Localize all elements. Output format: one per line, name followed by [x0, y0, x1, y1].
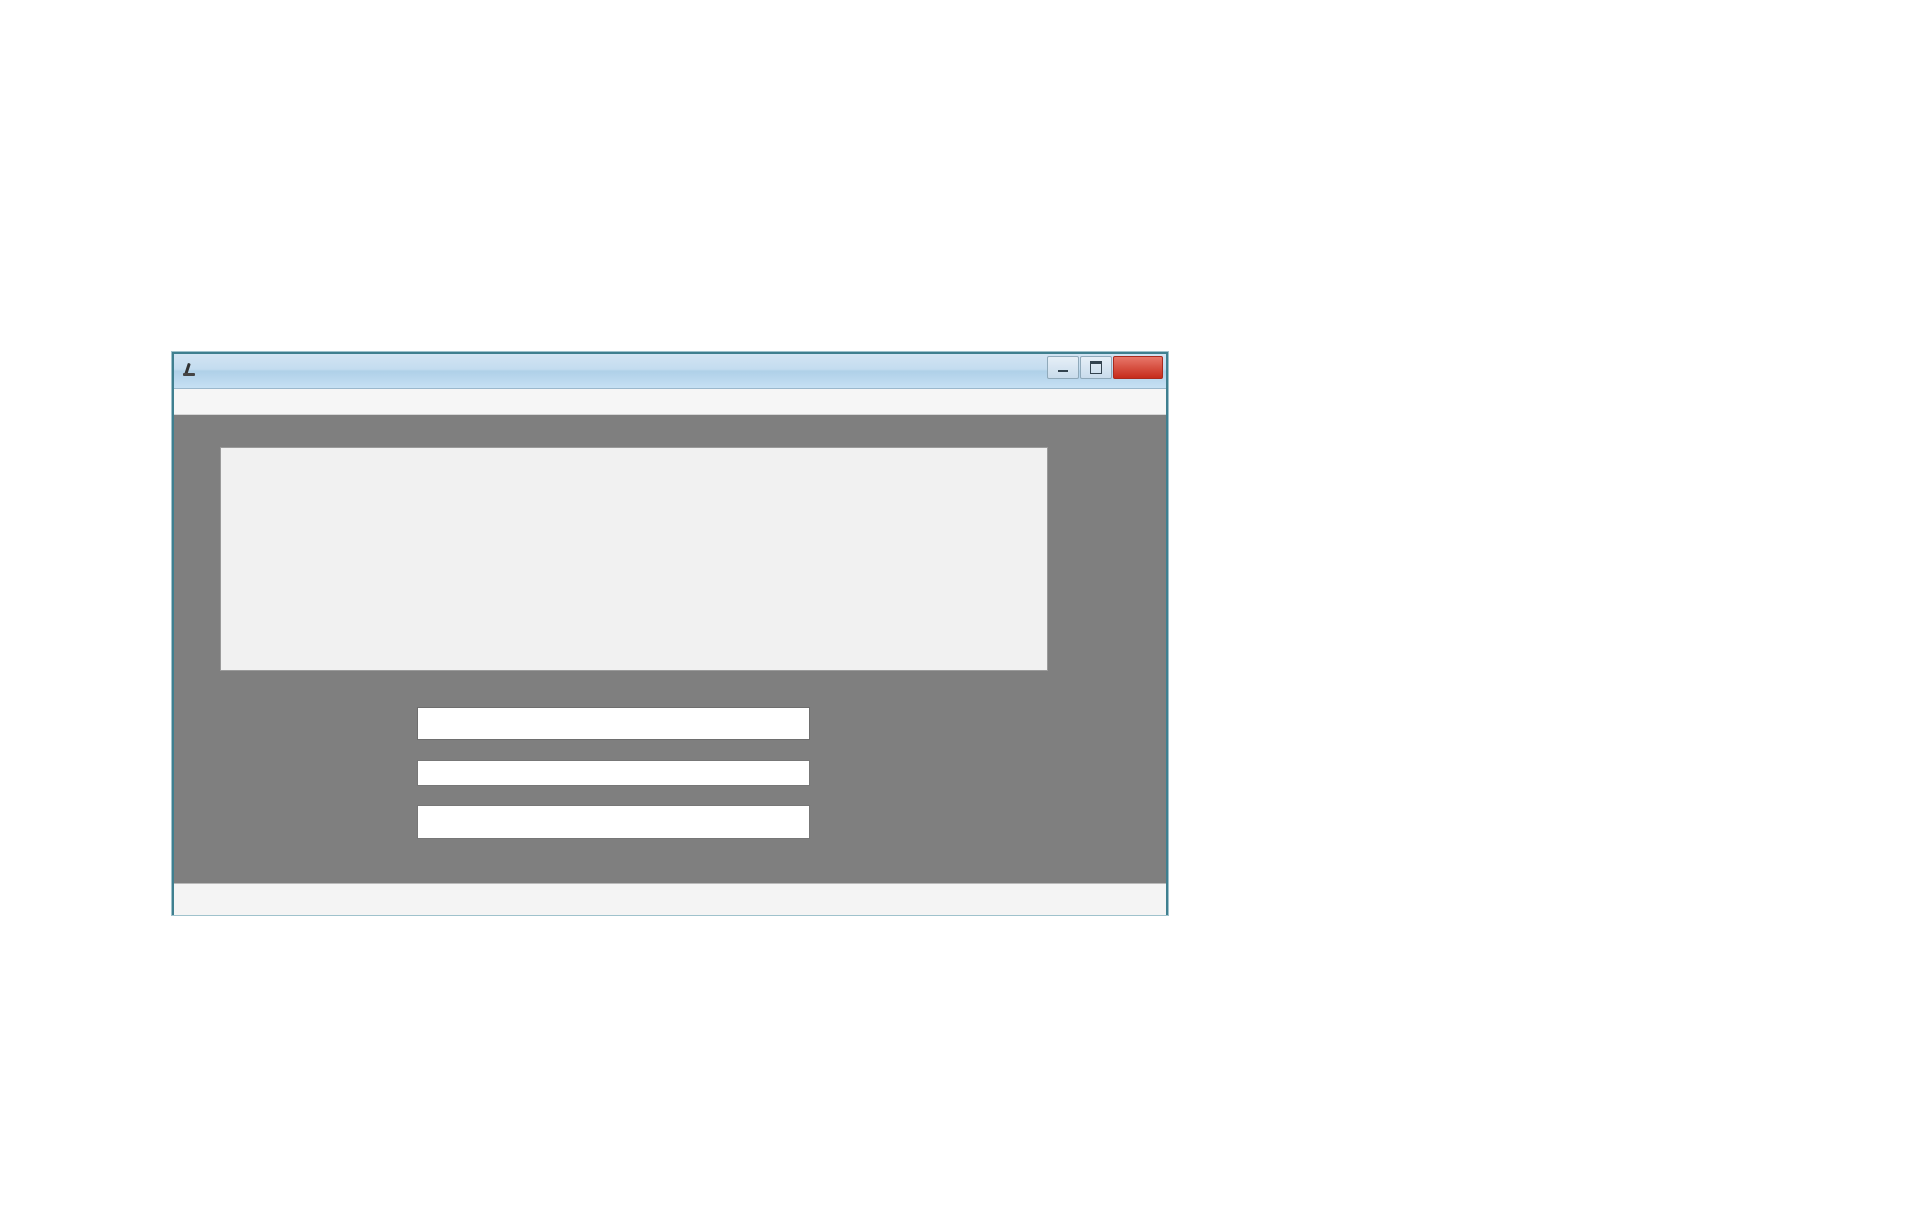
maximize-icon[interactable]: [1080, 356, 1112, 379]
virtual-keyboard: [220, 447, 1048, 671]
window-controls: [1047, 356, 1163, 379]
menu-item-lekce[interactable]: [183, 400, 189, 404]
app-window: [172, 352, 1168, 915]
page-root: [0, 0, 1920, 1223]
close-icon[interactable]: [1113, 356, 1163, 379]
minimize-icon[interactable]: [1047, 356, 1079, 379]
menubar: [174, 389, 1166, 415]
typing-input-primary[interactable]: [417, 760, 810, 786]
typing-input-secondary[interactable]: [417, 805, 810, 839]
exercise-text: [417, 707, 810, 740]
window-titlebar[interactable]: [174, 354, 1166, 389]
statusbar: [174, 883, 1166, 915]
app-body: [174, 415, 1166, 883]
pen-icon: [181, 360, 203, 382]
menu-item-o-aplikaci[interactable]: [211, 400, 217, 404]
